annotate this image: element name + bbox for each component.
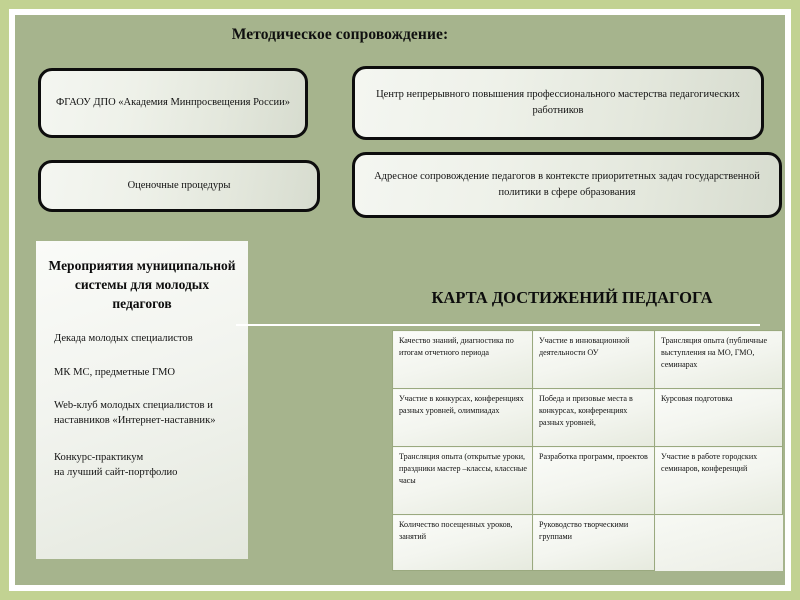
- list-item: Декада молодых специалистов: [48, 331, 236, 346]
- table-cell: Качество знаний, диагностика по итогам о…: [393, 331, 533, 389]
- table-cell: Курсовая подготовка: [655, 389, 783, 447]
- list-item: МК МС, предметные ГМО: [48, 365, 236, 380]
- municipal-events-panel: Мероприятия муниципальной системы для мо…: [36, 241, 248, 559]
- achievements-table: Качество знаний, диагностика по итогам о…: [392, 330, 783, 571]
- table-row: Качество знаний, диагностика по итогам о…: [393, 331, 783, 389]
- callout-box-address[interactable]: Адресное сопровождение педагогов в конте…: [352, 152, 782, 218]
- achievements-title: КАРТА ДОСТИЖЕНИЙ ПЕДАГОГА: [392, 288, 752, 308]
- callout-box-academy-label: ФГАОУ ДПО «Академия Минпросвещения Росси…: [56, 95, 290, 111]
- table-cell: [655, 515, 783, 571]
- table-cell: Трансляция опыта (публичные выступления …: [655, 331, 783, 389]
- table-row: Количество посещенных уроков, занятий Ру…: [393, 515, 783, 571]
- callout-box-assessment[interactable]: Оценочные процедуры: [38, 160, 320, 212]
- list-item: Конкурс-практикум на лучший сайт-портфол…: [48, 450, 236, 480]
- list-item: Web-клуб молодых специалистов и наставни…: [48, 398, 236, 428]
- table-cell: Участие в работе городских семинаров, ко…: [655, 447, 783, 515]
- municipal-events-panel-title: Мероприятия муниципальной системы для мо…: [48, 256, 236, 313]
- table-cell: Участие в конкурсах, конференциях разных…: [393, 389, 533, 447]
- table-row: Участие в конкурсах, конференциях разных…: [393, 389, 783, 447]
- table-cell: Количество посещенных уроков, занятий: [393, 515, 533, 571]
- callout-box-center[interactable]: Центр непрерывного повышения профессиона…: [352, 66, 764, 140]
- callout-box-academy[interactable]: ФГАОУ ДПО «Академия Минпросвещения Росси…: [38, 68, 308, 138]
- table-cell: Трансляция опыта (открытые уроки, праздн…: [393, 447, 533, 515]
- callout-box-address-label: Адресное сопровождение педагогов в конте…: [365, 169, 769, 202]
- callout-box-center-label: Центр непрерывного повышения профессиона…: [365, 87, 751, 120]
- table-cell: Победа и призовые места в конкурсах, кон…: [533, 389, 655, 447]
- table-row: Трансляция опыта (открытые уроки, праздн…: [393, 447, 783, 515]
- slide-canvas: Методическое сопровождение: ФГАОУ ДПО «А…: [0, 0, 800, 600]
- table-cell: Участие в инновационной деятельности ОУ: [533, 331, 655, 389]
- callout-box-assessment-label: Оценочные процедуры: [128, 178, 231, 194]
- page-title: Методическое сопровождение:: [120, 26, 560, 44]
- section-divider: [236, 324, 760, 326]
- table-cell: Разработка программ, проектов: [533, 447, 655, 515]
- table-cell: Руководство творческими группами: [533, 515, 655, 571]
